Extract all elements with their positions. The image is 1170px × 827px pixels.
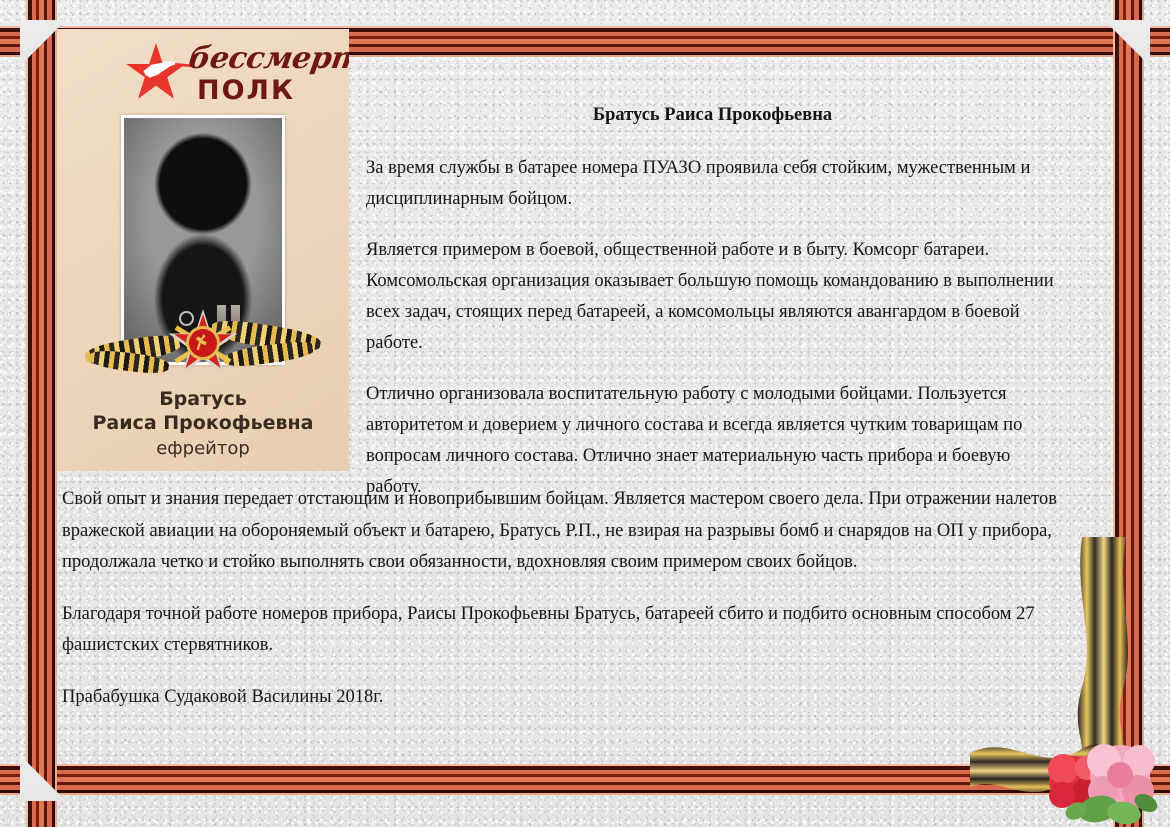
- immortal-regiment-card: бессмертный ПОЛК Братусь Р: [57, 29, 349, 471]
- carnation-pink-icon: [1087, 744, 1155, 807]
- ribbon-horizontal-segment: [970, 745, 1120, 795]
- calyx-leaves-icon: [1063, 790, 1161, 826]
- page-title: Братусь Раиса Прокофьевна: [366, 100, 1059, 131]
- right-text-column: Братусь Раиса Прокофьевна За время служб…: [366, 100, 1059, 523]
- immortal-regiment-logo: бессмертный ПОЛК: [57, 37, 349, 109]
- frame-corner-bottom-left-icon: [20, 755, 66, 801]
- paragraph: Является примером в боевой, общественной…: [366, 235, 1059, 359]
- paragraph: Свой опыт и знания передает отстающим и …: [62, 484, 1062, 579]
- frame-corner-bottom-right-icon: [1104, 755, 1150, 801]
- paragraph: Благодаря точной работе номеров прибора,…: [62, 599, 1062, 662]
- caption-name: Раиса Прокофьевна: [57, 411, 349, 436]
- carnation-red-icon: [1048, 754, 1101, 808]
- caption-rank: ефрейтор: [57, 436, 349, 462]
- poster-page: бессмертный ПОЛК Братусь Р: [0, 0, 1170, 827]
- wide-text-column: Свой опыт и знания передает отстающим и …: [62, 484, 1062, 713]
- logo-script-word: бессмертный: [186, 41, 349, 76]
- frame-bottom-band: [0, 764, 1170, 795]
- frame-left-band: [26, 0, 57, 827]
- order-of-patriotic-war-icon: [85, 301, 321, 385]
- ribbon-vertical-segment: [1078, 537, 1128, 761]
- attribution: Прабабушка Судаковой Василины 2018г.: [62, 682, 1062, 714]
- frame-corner-top-right-icon: [1104, 20, 1150, 66]
- card-caption: Братусь Раиса Прокофьевна ефрейтор: [57, 387, 349, 462]
- logo-block-word: ПОЛК: [197, 75, 295, 106]
- frame-right-band: [1113, 0, 1144, 827]
- caption-surname: Братусь: [57, 387, 349, 411]
- paragraph: За время службы в батарее номера ПУАЗО п…: [366, 153, 1059, 215]
